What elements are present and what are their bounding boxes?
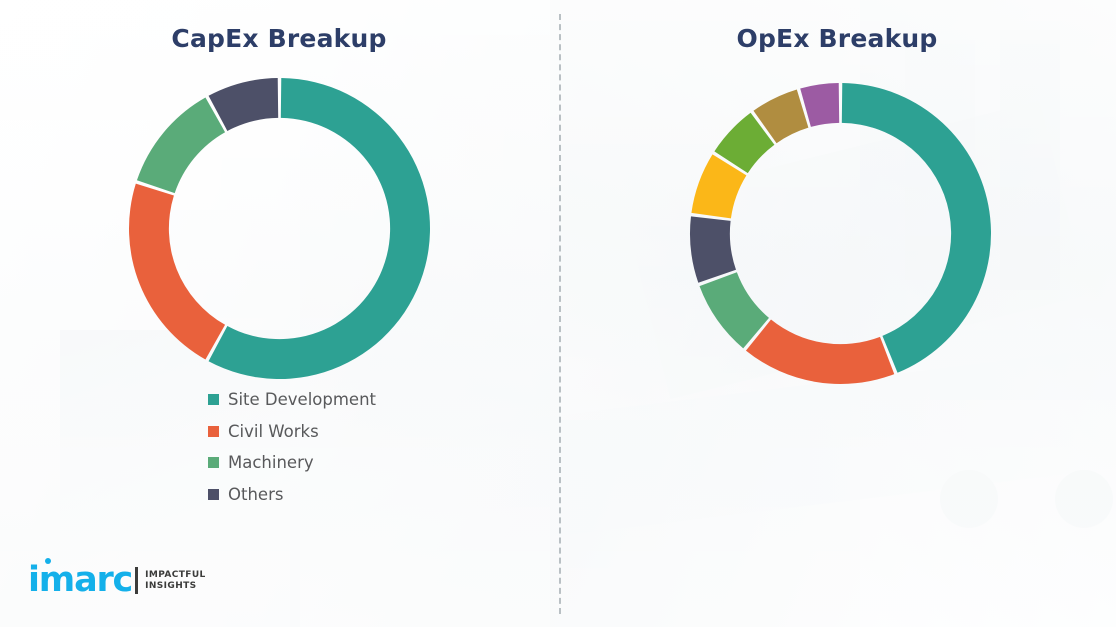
logo-tagline: IMPACTFUL INSIGHTS xyxy=(145,570,206,592)
donut-slice xyxy=(746,320,894,384)
donut-slice xyxy=(137,97,225,193)
legend-item-label: Civil Works xyxy=(228,422,319,441)
donut-slice xyxy=(690,216,736,282)
donut-slice xyxy=(842,83,991,373)
donut-slice xyxy=(129,184,225,360)
capex-panel: CapEx Breakup Site DevelopmentCivil Work… xyxy=(0,0,558,627)
legend-item[interactable]: Civil Works xyxy=(208,422,376,441)
logo-tagline-line-1: IMPACTFUL xyxy=(145,570,206,581)
opex-donut-chart xyxy=(688,81,993,386)
opex-chart-title: OpEx Breakup xyxy=(558,24,1116,53)
imarc-logo: imarc IMPACTFUL INSIGHTS xyxy=(28,563,206,598)
legend-item-label: Others xyxy=(228,485,283,504)
legend-item[interactable]: Machinery xyxy=(208,453,376,472)
legend-swatch-icon xyxy=(208,489,219,500)
opex-panel: OpEx Breakup Raw MaterialsSalaries and W… xyxy=(558,0,1116,627)
capex-chart-title: CapEx Breakup xyxy=(0,24,558,53)
logo-wordmark: imarc xyxy=(28,563,132,598)
legend-swatch-icon xyxy=(208,394,219,405)
legend-swatch-icon xyxy=(208,426,219,437)
legend-item[interactable]: Others xyxy=(208,485,376,504)
logo-dot-icon xyxy=(45,558,51,564)
logo-tagline-line-2: INSIGHTS xyxy=(145,581,206,592)
legend-item[interactable]: Site Development xyxy=(208,390,376,409)
logo-separator-bar xyxy=(135,567,138,594)
legend-swatch-icon xyxy=(208,457,219,468)
panel-divider xyxy=(559,14,561,614)
legend-item-label: Site Development xyxy=(228,390,376,409)
capex-donut-chart xyxy=(127,76,432,381)
legend-item-label: Machinery xyxy=(228,453,314,472)
capex-legend: Site DevelopmentCivil WorksMachineryOthe… xyxy=(208,390,376,516)
